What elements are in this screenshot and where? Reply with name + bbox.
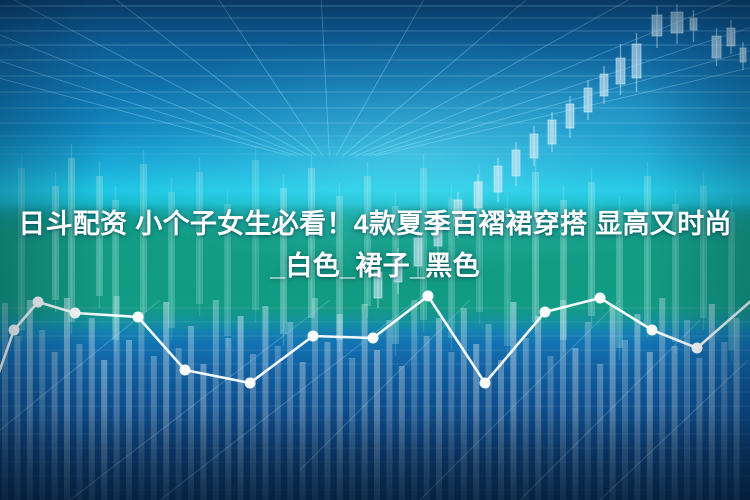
banner-image: 日斗配资 小个子女生必看！4款夏季百褶裙穿搭 显高又时尚_白色_裙子_黑色 xyxy=(0,0,750,500)
headline-title: 日斗配资 小个子女生必看！4款夏季百褶裙穿搭 显高又时尚_白色_裙子_黑色 xyxy=(0,203,750,287)
